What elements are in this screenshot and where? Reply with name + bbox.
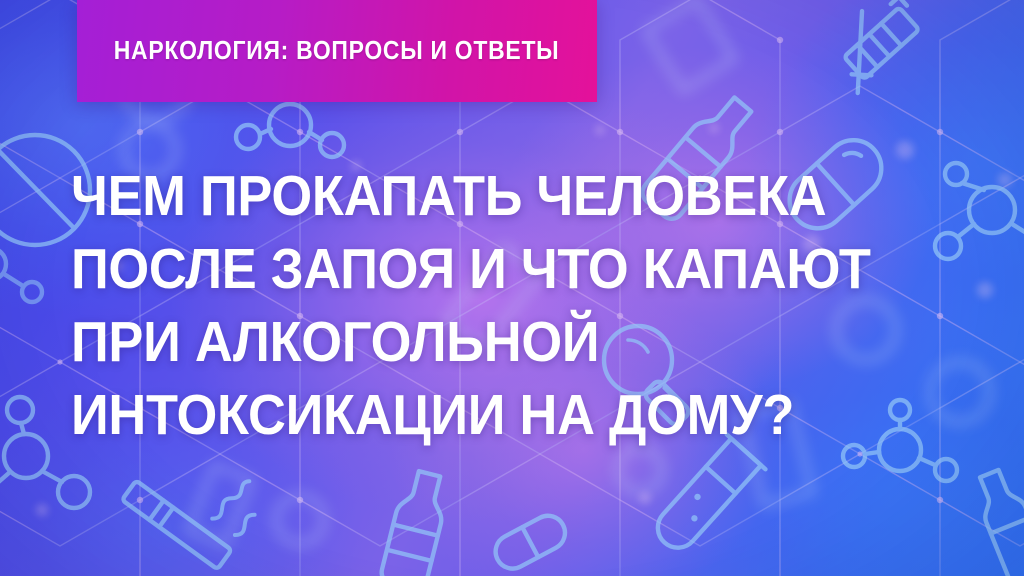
bottle-icon <box>379 468 452 576</box>
poster-canvas: НАРКОЛОГИЯ: ВОПРОСЫ И ОТВЕТЫ ЧЕМ ПРОКАПА… <box>0 0 1024 576</box>
bottle-icon <box>970 466 1024 576</box>
molecule-icon <box>236 104 344 157</box>
page-title-line: ПОСЛЕ ЗАПОЯ И ЧТО КАПАЮТ <box>71 233 715 306</box>
page-title-line: ПРИ АЛКОГОЛЬНОЙ <box>71 306 715 379</box>
molecule-icon <box>935 163 1024 259</box>
capsule-icon <box>490 510 571 575</box>
molecule-icon <box>0 248 42 302</box>
page-title: ЧЕМ ПРОКАПАТЬ ЧЕЛОВЕКА ПОСЛЕ ЗАПОЯ И ЧТО… <box>71 160 771 452</box>
category-badge: НАРКОЛОГИЯ: ВОПРОСЫ И ОТВЕТЫ <box>77 0 597 102</box>
syringe-icon <box>819 0 937 93</box>
page-title-line: ЧЕМ ПРОКАПАТЬ ЧЕЛОВЕКА <box>71 160 715 233</box>
page-title-line: ИНТОКСИКАЦИИ НА ДОМУ? <box>71 379 715 452</box>
category-badge-label: НАРКОЛОГИЯ: ВОПРОСЫ И ОТВЕТЫ <box>114 37 560 66</box>
test-tube-icon <box>645 434 765 559</box>
molecule-icon <box>843 400 957 481</box>
